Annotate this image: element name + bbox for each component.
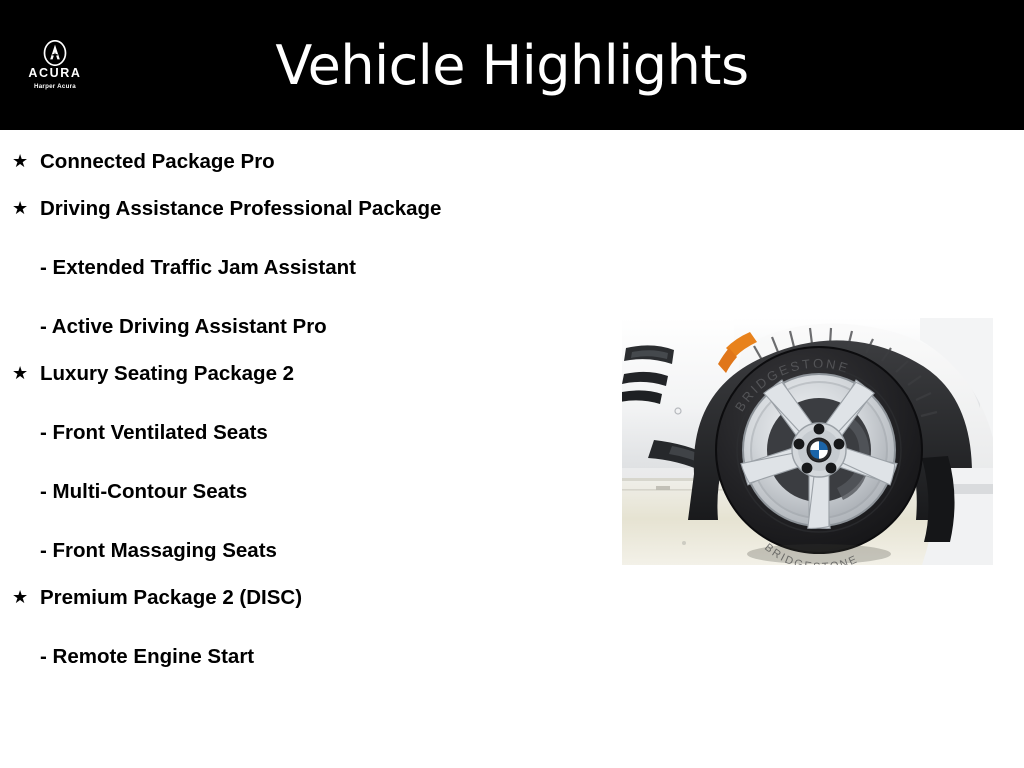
list-item: ★ Luxury Seating Package 2 — [0, 359, 600, 389]
list-item-label: Connected Package Pro — [40, 150, 275, 173]
star-bullet-icon: ★ — [12, 147, 28, 177]
highlights-list: ★ Connected Package Pro ★ Driving Assist… — [0, 130, 600, 672]
list-item: - Front Ventilated Seats — [0, 418, 600, 448]
list-item: - Active Driving Assistant Pro — [0, 312, 600, 342]
list-item: - Front Massaging Seats — [0, 536, 600, 566]
star-bullet-icon: ★ — [12, 194, 28, 224]
list-item: - Extended Traffic Jam Assistant — [0, 253, 600, 283]
list-item: ★ Premium Package 2 (DISC) — [0, 583, 600, 613]
slide-header: ACURA Harper Acura Vehicle Highlights — [0, 0, 1024, 130]
list-item-label: - Active Driving Assistant Pro — [40, 312, 327, 342]
star-bullet-icon: ★ — [12, 359, 28, 389]
list-item: - Remote Engine Start — [0, 642, 600, 672]
list-item: ★ Driving Assistance Professional Packag… — [0, 194, 600, 224]
list-item-label: - Front Ventilated Seats — [40, 418, 268, 448]
list-item-label: Driving Assistance Professional Package — [40, 197, 441, 220]
list-item-label: - Remote Engine Start — [40, 642, 254, 672]
list-item-label: Luxury Seating Package 2 — [40, 362, 294, 385]
list-item-label: - Front Massaging Seats — [40, 536, 277, 566]
wheel-illustration: BRIDGESTONE BRIDGESTONE — [622, 318, 993, 565]
list-item: - Multi-Contour Seats — [0, 477, 600, 507]
list-item-label: - Extended Traffic Jam Assistant — [40, 253, 356, 283]
list-item: ★ Connected Package Pro — [0, 147, 600, 177]
page-title: Vehicle Highlights — [0, 0, 1024, 130]
vehicle-front-wheel-photo: BRIDGESTONE BRIDGESTONE — [622, 318, 993, 565]
list-item-label: Premium Package 2 (DISC) — [40, 586, 302, 609]
star-bullet-icon: ★ — [12, 583, 28, 613]
list-item-label: - Multi-Contour Seats — [40, 477, 247, 507]
